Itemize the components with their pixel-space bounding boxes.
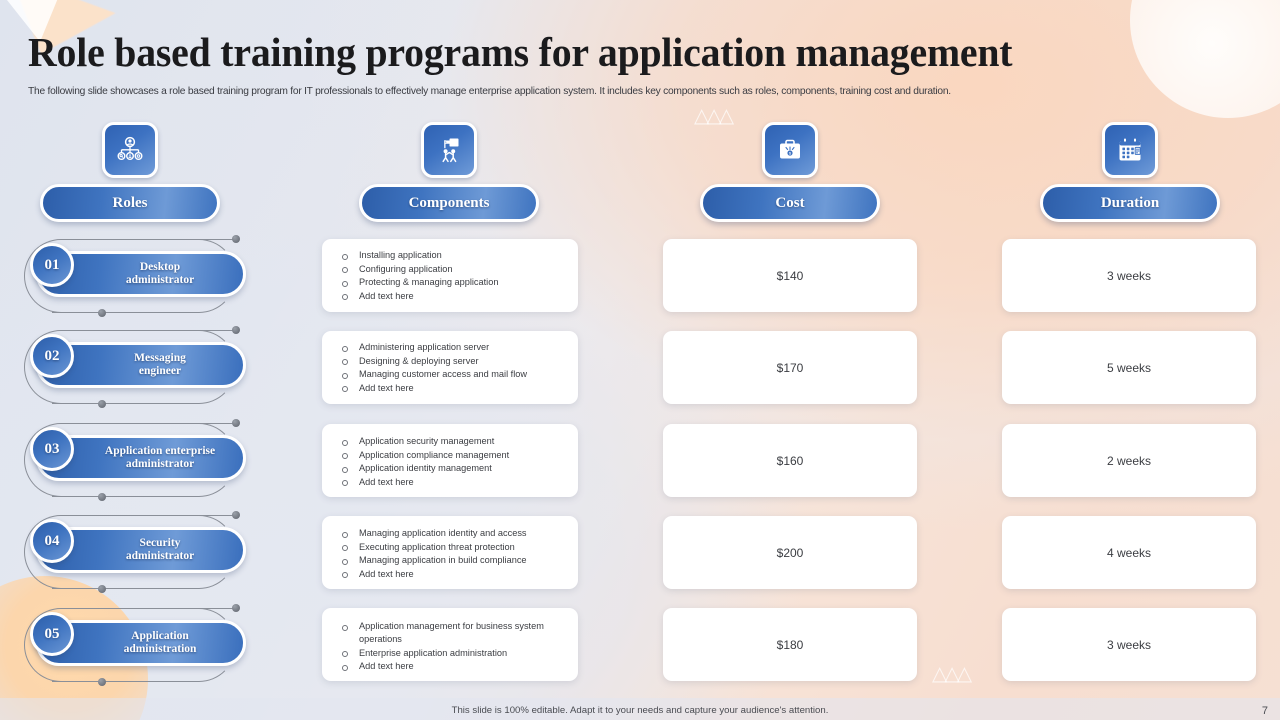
role-row[interactable]: Application administration 05	[22, 606, 270, 684]
slide-canvas: △△△ △△△ Role based training programs for…	[0, 0, 1280, 720]
components-list: Application management for business syst…	[322, 620, 578, 673]
column-header-cost: $	[732, 122, 848, 178]
list-item: Managing application in build compliance	[342, 554, 568, 567]
list-item: Designing & deploying server	[342, 355, 568, 368]
column-title-duration[interactable]: Duration	[1040, 184, 1220, 222]
role-row[interactable]: Messaging engineer 02	[22, 328, 270, 406]
role-number-badge: 05	[30, 612, 74, 656]
column-title-components[interactable]: Components	[359, 184, 539, 222]
connector-dot	[232, 511, 240, 519]
connector-dot	[98, 585, 106, 593]
connector-line-top	[118, 423, 236, 424]
column-title-cost[interactable]: Cost	[700, 184, 880, 222]
chevron-watermark-icon: △△△	[694, 106, 731, 126]
people-presentation-icon	[421, 122, 477, 178]
briefcase-icon: $	[762, 122, 818, 178]
role-label-line2: engineer	[139, 365, 181, 377]
role-row[interactable]: Application enterprise administrator 03	[22, 421, 270, 499]
role-label-line2: administrator	[126, 458, 194, 470]
cost-card: $140	[663, 239, 917, 312]
role-row[interactable]: Security administrator 04	[22, 513, 270, 591]
role-label-line1: Desktop	[140, 261, 180, 273]
cost-card: $180	[663, 608, 917, 681]
role-label-line1: Security	[140, 537, 181, 549]
duration-card: 4 weeks	[1002, 516, 1256, 589]
connector-line-top	[118, 515, 236, 516]
connector-dot	[98, 493, 106, 501]
duration-card: 5 weeks	[1002, 331, 1256, 404]
duration-card: 3 weeks	[1002, 608, 1256, 681]
list-item: Managing customer access and mail flow	[342, 368, 568, 381]
components-card: Installing application Configuring appli…	[322, 239, 578, 312]
list-item: Managing application identity and access	[342, 527, 568, 540]
role-number-badge: 04	[30, 519, 74, 563]
role-label-line1: Application enterprise	[105, 445, 215, 457]
role-number-badge: 02	[30, 334, 74, 378]
connector-line-top	[118, 239, 236, 240]
calendar-icon	[1102, 122, 1158, 178]
connector-dot	[232, 604, 240, 612]
role-label-line1: Application	[131, 630, 189, 642]
list-item: Add text here	[342, 660, 568, 673]
list-item: Add text here	[342, 382, 568, 395]
list-item: Protecting & managing application	[342, 276, 568, 289]
cost-card: $160	[663, 424, 917, 497]
components-card: Application management for business syst…	[322, 608, 578, 681]
column-header-roles	[72, 122, 188, 178]
chevron-watermark-icon: △△△	[932, 664, 969, 684]
column-header-components	[391, 122, 507, 178]
page-number: 7	[1262, 705, 1268, 717]
list-item: Add text here	[342, 568, 568, 581]
list-item: Application management for business syst…	[342, 620, 568, 646]
column-header-duration	[1072, 122, 1188, 178]
role-label-line2: administrator	[126, 550, 194, 562]
page-title: Role based training programs for applica…	[28, 28, 1012, 76]
connector-dot	[232, 235, 240, 243]
list-item: Application identity management	[342, 462, 568, 475]
components-list: Managing application identity and access…	[322, 527, 578, 581]
list-item: Installing application	[342, 249, 568, 262]
connector-line-top	[118, 330, 236, 331]
list-item: Executing application threat protection	[342, 541, 568, 554]
column-title-roles[interactable]: Roles	[40, 184, 220, 222]
cost-card: $170	[663, 331, 917, 404]
list-item: Configuring application	[342, 263, 568, 276]
page-subtitle: The following slide showcases a role bas…	[28, 86, 951, 97]
role-number-badge: 03	[30, 427, 74, 471]
components-list: Application security management Applicat…	[322, 435, 578, 489]
components-card: Administering application server Designi…	[322, 331, 578, 404]
org-chart-icon	[102, 122, 158, 178]
connector-dot	[98, 400, 106, 408]
components-card: Application security management Applicat…	[322, 424, 578, 497]
components-card: Managing application identity and access…	[322, 516, 578, 589]
role-label-line2: administrator	[126, 274, 194, 286]
connector-line-top	[118, 608, 236, 609]
role-label-line2: administration	[124, 643, 197, 655]
connector-dot	[232, 326, 240, 334]
cost-card: $200	[663, 516, 917, 589]
list-item: Application security management	[342, 435, 568, 448]
list-item: Add text here	[342, 476, 568, 489]
decorative-circle-top-right	[1130, 0, 1280, 118]
list-item: Administering application server	[342, 341, 568, 354]
role-number-badge: 01	[30, 243, 74, 287]
connector-dot	[232, 419, 240, 427]
footer-note: This slide is 100% editable. Adapt it to…	[0, 705, 1280, 716]
duration-card: 2 weeks	[1002, 424, 1256, 497]
list-item: Add text here	[342, 290, 568, 303]
connector-dot	[98, 309, 106, 317]
role-label-line1: Messaging	[134, 352, 186, 364]
role-row[interactable]: Desktop administrator 01	[22, 237, 270, 315]
duration-card: 3 weeks	[1002, 239, 1256, 312]
list-item: Application compliance management	[342, 449, 568, 462]
components-list: Administering application server Designi…	[322, 341, 578, 395]
list-item: Enterprise application administration	[342, 647, 568, 660]
components-list: Installing application Configuring appli…	[322, 249, 578, 303]
connector-dot	[98, 678, 106, 686]
